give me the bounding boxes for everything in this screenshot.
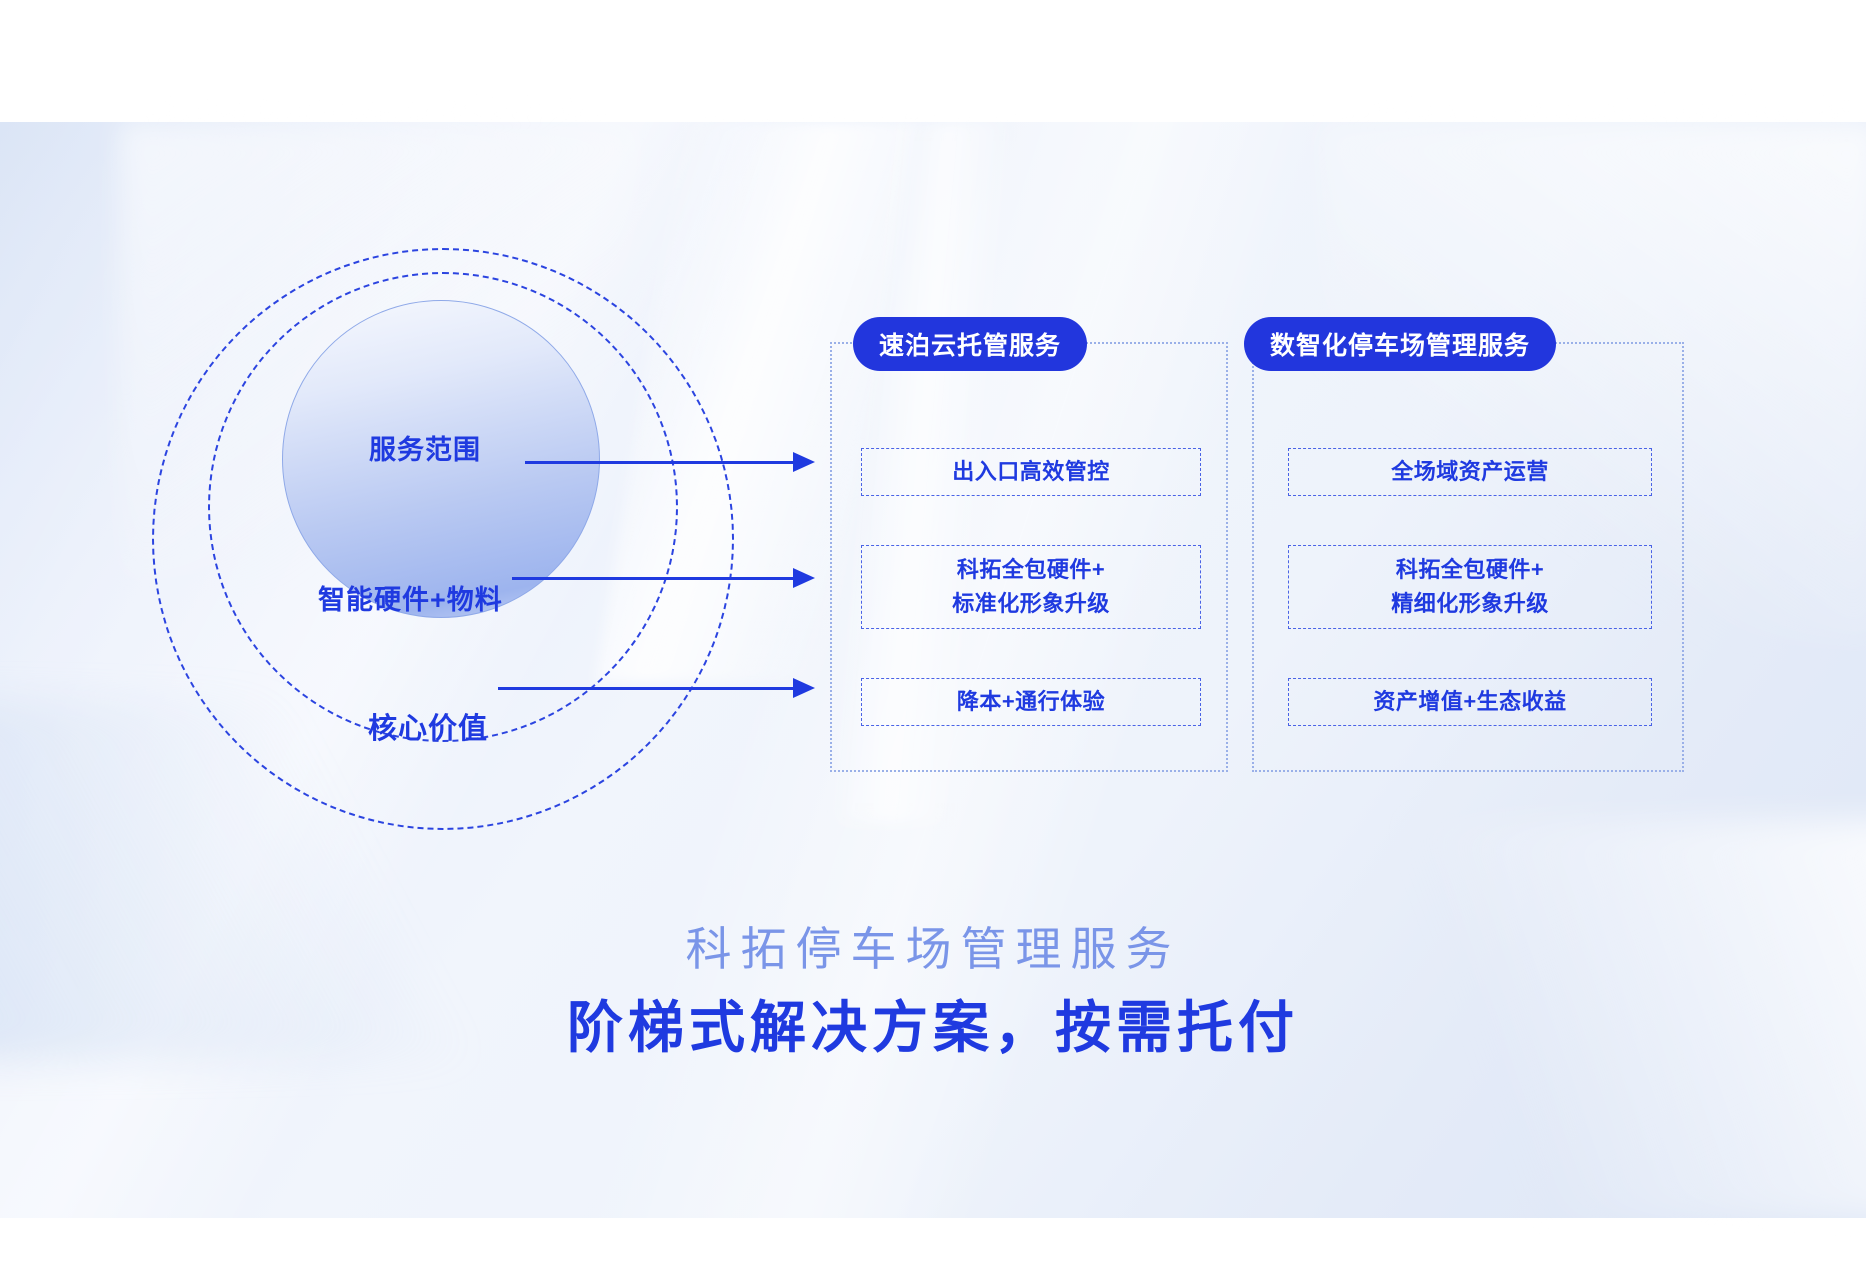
column-title-pill-smart-parking[interactable]: 数智化停车场管理服务 [1244, 317, 1556, 371]
service-column-smart-parking: 数智化停车场管理服务 全场域资产运营 科拓全包硬件+ 精细化形象升级 资产增值+… [1252, 342, 1684, 772]
column-title-pill-supo-cloud[interactable]: 速泊云托管服务 [853, 317, 1087, 371]
card-line: 科拓全包硬件+ [957, 553, 1105, 587]
arrow-head-icon [793, 452, 815, 472]
card-line: 降本+通行体验 [957, 685, 1105, 719]
card-line: 出入口高效管控 [952, 455, 1110, 489]
service-card[interactable]: 科拓全包硬件+ 精细化形象升级 [1288, 545, 1652, 629]
sub-heading: 科拓停车场管理服务 [0, 913, 1866, 979]
arrow-core-value [498, 678, 815, 698]
circle-label-core-value: 核心价值 [368, 705, 488, 747]
service-card[interactable]: 降本+通行体验 [861, 678, 1201, 726]
circle-label-hardware-material: 智能硬件+物料 [318, 578, 503, 617]
page-title: 阶梯式解决方案，按需托付 [0, 983, 1866, 1064]
card-line: 资产增值+生态收益 [1373, 685, 1566, 719]
arrow-hardware-material [512, 568, 815, 588]
service-card[interactable]: 资产增值+生态收益 [1288, 678, 1652, 726]
arrow-head-icon [793, 678, 815, 698]
arrow-shaft [512, 577, 793, 580]
service-card[interactable]: 科拓全包硬件+ 标准化形象升级 [861, 545, 1201, 629]
slide-canvas: 服务范围 智能硬件+物料 核心价值 速泊云托管服务 出入口高效管控 科拓全包硬件… [0, 0, 1866, 1264]
circle-label-service-scope: 服务范围 [369, 428, 481, 467]
arrow-shaft [498, 687, 793, 690]
arrow-shaft [525, 461, 793, 464]
service-card[interactable]: 出入口高效管控 [861, 448, 1201, 496]
card-line: 科拓全包硬件+ [1396, 553, 1544, 587]
card-line: 标准化形象升级 [952, 587, 1110, 621]
card-line: 全场域资产运营 [1391, 455, 1549, 489]
service-column-supo-cloud: 速泊云托管服务 出入口高效管控 科拓全包硬件+ 标准化形象升级 降本+通行体验 [830, 342, 1228, 772]
arrow-service-scope [525, 452, 815, 472]
service-card[interactable]: 全场域资产运营 [1288, 448, 1652, 496]
card-line: 精细化形象升级 [1391, 587, 1549, 621]
arrow-head-icon [793, 568, 815, 588]
